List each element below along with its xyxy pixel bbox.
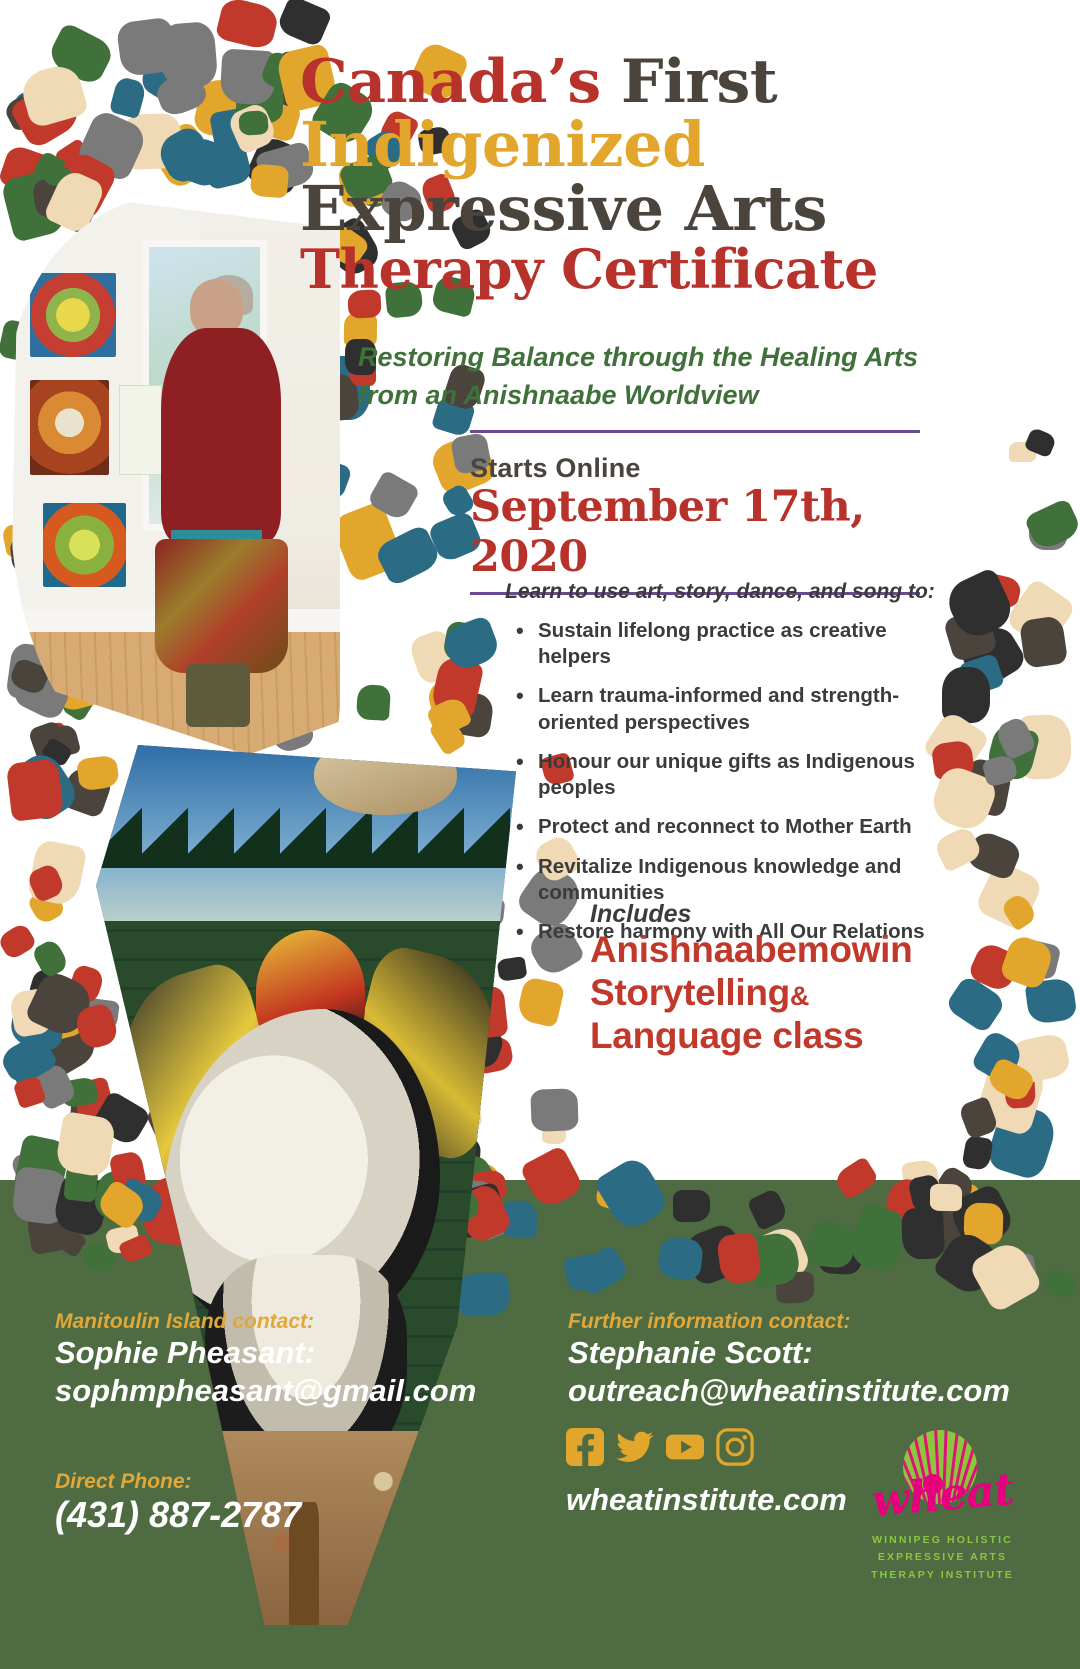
start-date-block: Starts Online September 17th, 2020	[470, 430, 920, 595]
mosaic-tile	[965, 828, 1023, 881]
mosaic-tile	[985, 722, 1042, 783]
mosaic-tile	[0, 921, 38, 961]
mosaic-tile	[531, 1088, 580, 1132]
mosaic-tile	[1015, 714, 1073, 780]
mosaic-tile	[999, 891, 1038, 931]
mosaic-tile	[30, 1061, 78, 1111]
mosaic-tile	[13, 1075, 47, 1109]
mosaic-tile	[250, 163, 290, 198]
mosaic-tile	[11, 1052, 62, 1103]
mosaic-tile	[76, 755, 120, 792]
mosaic-tile	[1024, 427, 1058, 459]
title-line1-a: Canada’s	[300, 47, 601, 117]
mosaic-tile	[425, 694, 473, 738]
mosaic-tile	[985, 1100, 1060, 1182]
mosaic-tile	[77, 1137, 108, 1169]
mosaic-tile	[952, 767, 987, 802]
mosaic-tile	[0, 1031, 59, 1088]
instagram-icon[interactable]	[716, 1428, 754, 1466]
starts-online-label: Starts Online	[470, 453, 920, 484]
contact-right-email[interactable]: outreach@wheatinstitute.com	[568, 1372, 1038, 1410]
mosaic-tile	[209, 106, 254, 150]
mosaic-tile	[6, 758, 64, 822]
mosaic-tile	[962, 1135, 995, 1172]
start-date-value: September 17th, 2020	[470, 482, 920, 582]
mosaic-tile	[6, 88, 54, 136]
includes-ampersand: &	[790, 981, 809, 1011]
mosaic-tile	[219, 49, 276, 106]
mosaic-tile	[40, 736, 73, 768]
mosaic-tile	[440, 614, 502, 673]
mosaic-tile	[356, 684, 391, 720]
mosaic-tile	[27, 839, 88, 907]
mosaic-tile	[137, 23, 204, 90]
twitter-icon[interactable]	[616, 1428, 654, 1466]
contact-left-email[interactable]: sophmpheasant@gmail.com	[55, 1372, 485, 1410]
mosaic-tile	[68, 1094, 112, 1144]
mosaic-tile	[31, 150, 75, 191]
contact-phone: Direct Phone: (431) 887-2787	[55, 1470, 435, 1536]
mosaic-tile	[960, 757, 1013, 817]
photo-studio-singer	[10, 195, 340, 755]
mosaic-tile	[26, 862, 66, 903]
mosaic-tile	[1016, 938, 1061, 981]
mosaic-tile	[981, 754, 1019, 788]
title-line2: Indigenized	[300, 114, 1000, 176]
mosaic-tile	[34, 1017, 101, 1081]
mosaic-tile	[27, 720, 68, 762]
mosaic-tile	[91, 1090, 152, 1148]
mosaic-tile	[21, 983, 86, 1046]
includes-line1: Anishnaabemowin	[590, 929, 990, 972]
mosaic-tile	[120, 113, 182, 170]
mosaic-tile	[1029, 514, 1067, 550]
learn-bullet-item: Honour our unique gifts as Indigenous pe…	[512, 749, 952, 801]
youtube-icon[interactable]	[666, 1428, 704, 1466]
mosaic-tile	[442, 619, 486, 664]
mosaic-tile	[999, 933, 1056, 991]
mosaic-tile	[1024, 977, 1077, 1025]
mosaic-tile	[75, 108, 150, 183]
phone-label: Direct Phone:	[55, 1470, 435, 1494]
mosaic-tile	[215, 0, 280, 51]
mosaic-tile	[408, 628, 462, 686]
mosaic-tile	[37, 722, 68, 752]
contact-manitoulin: Manitoulin Island contact: Sophie Pheasa…	[55, 1310, 485, 1411]
wheat-logo: wheat WINNIPEG HOLISTIC EXPRESSIVE ARTS …	[845, 1430, 1040, 1584]
mosaic-tile	[0, 143, 55, 197]
logo-tagline-line3: THERAPY INSTITUTE	[845, 1567, 1040, 1584]
mosaic-tile	[158, 21, 219, 90]
mosaic-tile	[4, 747, 82, 827]
learn-lead-text: Learn to use art, story, dance, and song…	[505, 580, 945, 604]
contact-left-name: Sophie Pheasant:	[55, 1334, 485, 1372]
mosaic-tile	[981, 572, 1023, 609]
mosaic-tile	[67, 963, 106, 1005]
social-links	[566, 1428, 754, 1466]
mosaic-tile	[18, 61, 90, 129]
mosaic-tile	[366, 470, 421, 524]
facebook-icon[interactable]	[566, 1428, 604, 1466]
mosaic-tile	[1005, 577, 1078, 650]
mosaic-tile	[973, 1057, 1047, 1137]
mosaic-tile	[44, 21, 115, 87]
includes-block: Includes Anishnaabemowin Storytelling& L…	[590, 900, 990, 1058]
mosaic-tile	[496, 956, 527, 982]
mosaic-tile	[329, 500, 405, 583]
mosaic-tile	[542, 1124, 567, 1144]
mosaic-tile	[153, 123, 218, 188]
mosaic-tile	[59, 764, 114, 819]
mosaic-tile	[1009, 1032, 1072, 1086]
contact-right-label: Further information contact:	[568, 1310, 1038, 1334]
mosaic-tile	[73, 1002, 120, 1052]
mosaic-tile	[137, 33, 217, 114]
mosaic-tile	[153, 69, 210, 119]
mosaic-tile	[147, 119, 219, 191]
logo-tagline-line1: WINNIPEG HOLISTIC	[845, 1532, 1040, 1549]
mosaic-tile	[1004, 1070, 1037, 1109]
mosaic-tile	[424, 674, 477, 728]
mosaic-tile	[238, 111, 268, 137]
mosaic-tile	[109, 76, 148, 120]
mosaic-tile	[55, 1111, 117, 1178]
phone-number[interactable]: (431) 887-2787	[55, 1494, 435, 1536]
logo-wordmark: wheat	[843, 1462, 1042, 1530]
mosaic-tile	[246, 93, 304, 144]
mosaic-tile	[985, 1055, 1037, 1103]
logo-tagline-line2: EXPRESSIVE ARTS	[845, 1549, 1040, 1566]
includes-line3: Language class	[590, 1015, 990, 1058]
title-line3: Expressive Arts	[300, 178, 1000, 240]
mosaic-tile	[1009, 442, 1036, 463]
bottom-green-panel	[0, 1180, 1080, 1669]
mosaic-tile	[192, 76, 263, 143]
poster-canvas: Canada’s First Indigenized Expressive Ar…	[0, 0, 1080, 1669]
page-title: Canada’s First Indigenized Expressive Ar…	[300, 52, 1000, 296]
mosaic-tile	[449, 690, 495, 739]
mosaic-tile	[429, 656, 484, 719]
mosaic-tile	[53, 138, 92, 175]
mosaic-tile	[516, 975, 566, 1027]
mosaic-tile	[59, 1076, 99, 1109]
learn-bullet-item: Protect and reconnect to Mother Earth	[512, 814, 952, 840]
mosaic-tile	[178, 135, 230, 190]
website-url[interactable]: wheatinstitute.com	[566, 1482, 847, 1518]
mosaic-tile	[8, 78, 85, 151]
mosaic-tile	[236, 86, 284, 124]
mosaic-tile	[24, 967, 97, 1040]
mosaic-tile	[276, 0, 333, 48]
includes-line2: Storytelling	[590, 972, 790, 1013]
logo-tagline: WINNIPEG HOLISTIC EXPRESSIVE ARTS THERAP…	[845, 1532, 1040, 1584]
divider-top	[470, 430, 920, 433]
mosaic-tile	[239, 55, 291, 105]
mosaic-tile	[9, 987, 56, 1038]
title-line4: Therapy Certificate	[300, 242, 1000, 296]
mosaic-tile	[44, 165, 72, 188]
includes-line2-wrap: Storytelling&	[590, 972, 990, 1015]
poster-subtitle: Restoring Balance through the Healing Ar…	[358, 338, 978, 415]
mosaic-tile	[942, 567, 1018, 644]
mosaic-tile	[994, 715, 1037, 761]
mosaic-tile	[26, 886, 66, 927]
mosaic-tile	[226, 101, 279, 156]
mosaic-tile	[31, 938, 71, 980]
contact-right-name: Stephanie Scott:	[568, 1334, 1038, 1372]
learn-bullet-item: Sustain lifelong practice as creative he…	[512, 618, 952, 670]
learn-bullet-item: Learn trauma-informed and strength-orien…	[512, 683, 952, 735]
includes-label: Includes	[590, 900, 990, 929]
mosaic-tile	[429, 714, 469, 756]
mosaic-tile	[958, 653, 1006, 698]
mosaic-tile	[46, 722, 82, 759]
mosaic-tile	[201, 140, 253, 190]
mosaic-tile	[27, 968, 63, 1006]
mosaic-tile	[957, 1096, 998, 1140]
learn-bullet-item: Revitalize Indigenous knowledge and comm…	[512, 854, 952, 906]
mosaic-tile	[116, 17, 177, 78]
mosaic-tile	[8, 994, 67, 1051]
mosaic-tile	[373, 524, 442, 587]
mosaic-tile	[956, 621, 1028, 691]
mosaic-tile	[1024, 498, 1080, 552]
contact-left-label: Manitoulin Island contact:	[55, 1310, 485, 1334]
mosaic-tile	[75, 996, 119, 1033]
contact-further-info: Further information contact: Stephanie S…	[568, 1310, 1038, 1411]
mosaic-tile	[2, 89, 49, 133]
mosaic-tile	[71, 1076, 115, 1120]
title-line1-b: First	[621, 47, 777, 117]
mosaic-tile	[1019, 616, 1068, 670]
